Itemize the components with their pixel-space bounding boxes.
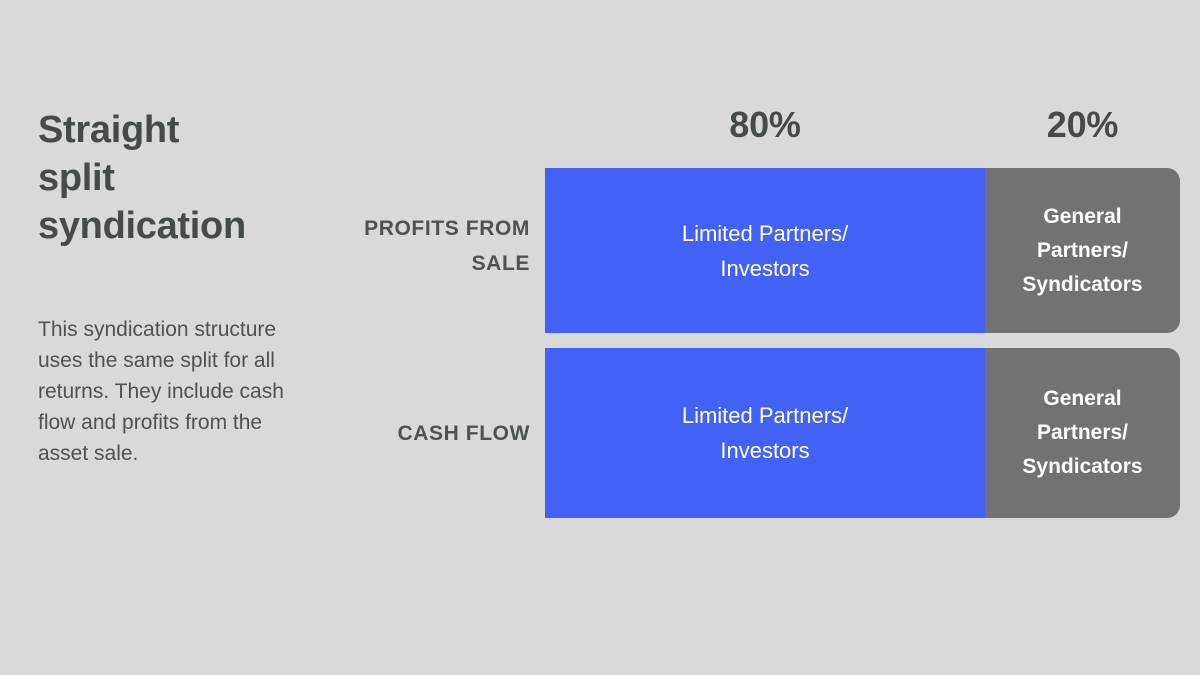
segment-minor-line-3: Syndicators bbox=[1022, 268, 1142, 302]
segment-general-partners: General Partners/ Syndicators bbox=[985, 348, 1180, 518]
bar-profits-from-sale: Limited Partners/ Investors General Part… bbox=[545, 168, 1180, 333]
segment-minor-line-2: Partners/ bbox=[1022, 416, 1142, 450]
segment-major-line-1: Limited Partners/ bbox=[682, 216, 848, 251]
percent-label-minor: 20% bbox=[985, 104, 1180, 146]
row-label-line-1: CASH FLOW bbox=[397, 422, 530, 445]
segment-limited-partners: Limited Partners/ Investors bbox=[545, 168, 985, 333]
segment-minor-line-1: General bbox=[1022, 200, 1142, 234]
segment-major-line-2: Investors bbox=[682, 433, 848, 468]
row-label-line-2: FROM SALE bbox=[466, 217, 530, 275]
segment-major-line-1: Limited Partners/ bbox=[682, 398, 848, 433]
row-label-cash-flow: CASH FLOW bbox=[300, 416, 530, 451]
row-label-line-1: PROFITS bbox=[364, 217, 459, 240]
split-chart: 80% 20% PROFITS FROM SALE Limited Partne… bbox=[0, 0, 1200, 675]
bar-cash-flow: Limited Partners/ Investors General Part… bbox=[545, 348, 1180, 518]
slide-canvas: Straight split syndication This syndicat… bbox=[0, 0, 1200, 675]
segment-minor-line-2: Partners/ bbox=[1022, 234, 1142, 268]
segment-minor-line-3: Syndicators bbox=[1022, 450, 1142, 484]
row-label-profits-from-sale: PROFITS FROM SALE bbox=[300, 211, 530, 281]
segment-general-partners: General Partners/ Syndicators bbox=[985, 168, 1180, 333]
segment-major-line-2: Investors bbox=[682, 251, 848, 286]
segment-limited-partners: Limited Partners/ Investors bbox=[545, 348, 985, 518]
segment-minor-line-1: General bbox=[1022, 382, 1142, 416]
percent-label-major: 80% bbox=[545, 104, 985, 146]
